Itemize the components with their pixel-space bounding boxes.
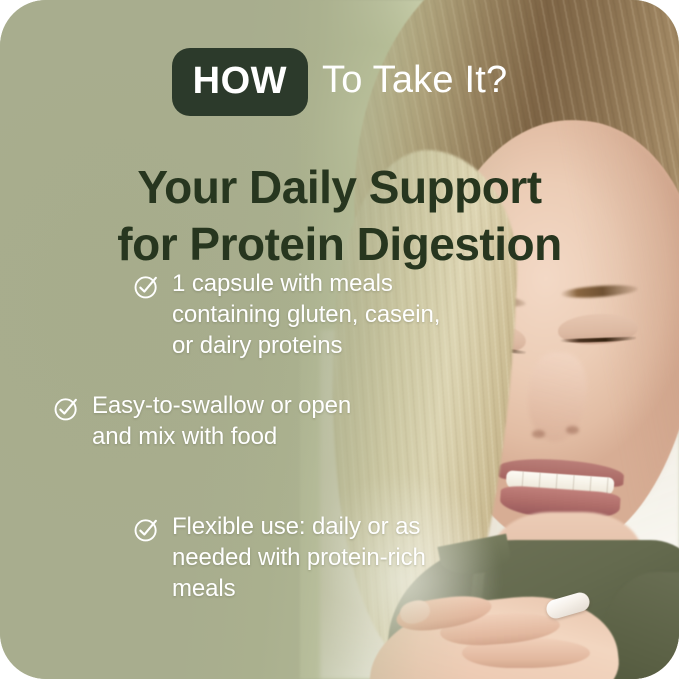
headline-line-1: Your Daily Support	[137, 161, 541, 213]
benefit-item-2: Easy-to-swallow or open and mix with foo…	[53, 391, 383, 453]
page-title: Your Daily Support for Protein Digestion	[0, 159, 679, 273]
kicker-row: HOW To Take It?	[0, 48, 679, 116]
kicker-text: To Take It?	[322, 61, 507, 103]
benefit-text-1: 1 capsule with meals containing gluten, …	[172, 269, 453, 362]
check-circle-icon	[133, 516, 160, 543]
benefit-item-1: 1 capsule with meals containing gluten, …	[133, 269, 453, 362]
check-circle-icon	[53, 395, 80, 422]
product-info-poster: HOW To Take It? Your Daily Support for P…	[0, 0, 679, 679]
benefit-text-2: Easy-to-swallow or open and mix with foo…	[92, 391, 383, 453]
benefit-text-3: Flexible use: daily or as needed with pr…	[172, 512, 433, 605]
how-badge: HOW	[172, 48, 308, 116]
poster-content: HOW To Take It? Your Daily Support for P…	[0, 0, 679, 679]
benefit-item-3: Flexible use: daily or as needed with pr…	[133, 512, 433, 605]
check-circle-icon	[133, 273, 160, 300]
headline-line-2: for Protein Digestion	[0, 216, 679, 273]
